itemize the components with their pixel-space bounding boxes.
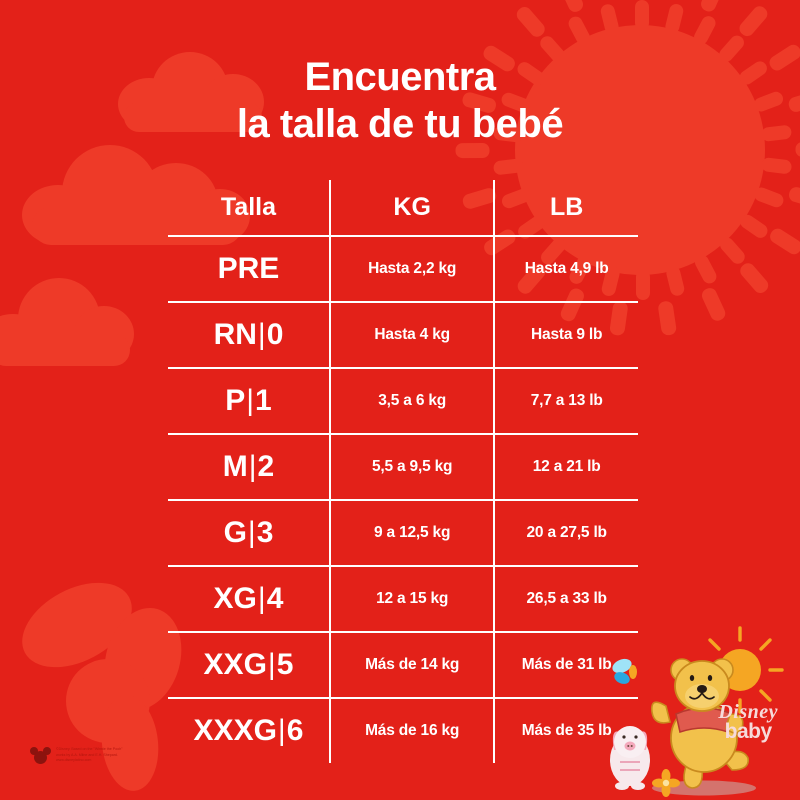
size-number: 2	[258, 450, 275, 483]
sunburst-ray	[636, 270, 650, 300]
table-row: M|25,5 a 9,5 kg12 a 21 lb	[168, 434, 638, 500]
size-label: PRE	[218, 252, 280, 285]
size-letters: PRE	[218, 252, 280, 285]
sunburst-ray	[787, 185, 800, 209]
sunburst-ray	[664, 3, 685, 35]
size-separator: |	[257, 318, 267, 352]
baby-wordmark: baby	[718, 722, 778, 742]
sunburst-ray	[566, 14, 592, 47]
cell-weight-lb: 20 a 27,5 lb	[494, 500, 638, 566]
size-label: XXG|5	[204, 648, 294, 681]
table-header-row: Talla KG LB	[168, 180, 638, 236]
cell-size: G|3	[168, 500, 330, 566]
sunburst-ray	[737, 260, 771, 295]
sunburst-ray	[717, 235, 747, 267]
size-label: M|2	[223, 450, 274, 483]
sunburst-ray	[665, 265, 686, 297]
sunburst-ray	[514, 4, 548, 39]
size-letters: M	[223, 450, 248, 483]
size-number: 6	[287, 714, 304, 747]
size-letters: XG	[214, 582, 257, 615]
disney-baby-logo: Disney baby	[718, 703, 778, 742]
size-number: 0	[267, 318, 284, 351]
table-header: Talla KG LB	[168, 180, 638, 236]
sunburst-ray	[737, 3, 771, 39]
table-row: RN|0Hasta 4 kgHasta 9 lb	[168, 302, 638, 368]
page-title: Encuentra la talla de tu bebé	[0, 54, 800, 148]
sunburst-ray	[699, 0, 727, 14]
size-label: XXXG|6	[194, 714, 304, 747]
copyright-line-3: www.disneylatino.com	[56, 758, 122, 764]
butterfly-icon	[610, 656, 637, 686]
size-separator: |	[245, 384, 255, 418]
cell-weight-kg: 5,5 a 9,5 kg	[330, 434, 494, 500]
size-letters: RN	[214, 318, 257, 351]
cell-weight-kg: 9 a 12,5 kg	[330, 500, 494, 566]
cell-weight-kg: 3,5 a 6 kg	[330, 368, 494, 434]
size-letters: XXG	[204, 648, 267, 681]
size-number: 3	[257, 516, 274, 549]
sunburst-ray	[693, 253, 719, 286]
cell-weight-lb: Hasta 4,9 lb	[494, 236, 638, 302]
sunburst-ray	[752, 186, 785, 210]
mickey-mouse-icon	[30, 747, 50, 764]
sunburst-ray	[557, 0, 585, 14]
cell-size: P|1	[168, 368, 330, 434]
cell-weight-lb: 12 a 21 lb	[494, 434, 638, 500]
table-row: XXG|5Más de 14 kgMás de 31 lb	[168, 632, 638, 698]
table-row: XG|412 a 15 kg26,5 a 33 lb	[168, 566, 638, 632]
piglet-character	[610, 726, 650, 790]
cloud-watermark-lower	[0, 270, 150, 365]
cell-size: PRE	[168, 236, 330, 302]
size-separator: |	[257, 582, 267, 616]
size-label: XG|4	[214, 582, 284, 615]
sunburst-ray	[761, 157, 792, 175]
size-letters: XXXG	[194, 714, 277, 747]
table-row: P|13,5 a 6 kg7,7 a 13 lb	[168, 368, 638, 434]
column-header-kg: KG	[330, 180, 494, 236]
sunburst-ray	[692, 14, 718, 47]
disney-wordmark: Disney	[718, 703, 778, 722]
cell-size: XXXG|6	[168, 698, 330, 763]
copyright-text: ©Disney. Based on the "Winnie the Pooh" …	[56, 747, 122, 764]
cell-weight-kg: Hasta 4 kg	[330, 302, 494, 368]
table-row: G|39 a 12,5 kg20 a 27,5 lb	[168, 500, 638, 566]
cell-size: M|2	[168, 434, 330, 500]
size-label: RN|0	[214, 318, 284, 351]
cell-size: XG|4	[168, 566, 330, 632]
sunburst-ray	[700, 286, 728, 323]
size-label: P|1	[225, 384, 272, 417]
size-number: 1	[255, 384, 272, 417]
cell-weight-lb: 7,7 a 13 lb	[494, 368, 638, 434]
table-row: PREHasta 2,2 kgHasta 4,9 lb	[168, 236, 638, 302]
sunburst-ray	[657, 300, 677, 336]
copyright-line-1: ©Disney. Based on the "Winnie the Pooh"	[56, 747, 122, 753]
title-line-1: Encuentra	[0, 54, 800, 101]
size-number: 5	[277, 648, 294, 681]
cell-size: XXG|5	[168, 632, 330, 698]
column-header-lb: LB	[494, 180, 638, 236]
size-letters: P	[225, 384, 245, 417]
copyright-block: ©Disney. Based on the "Winnie the Pooh" …	[30, 747, 122, 764]
size-separator: |	[248, 450, 258, 484]
cell-weight-kg: Más de 14 kg	[330, 632, 494, 698]
cell-size: RN|0	[168, 302, 330, 368]
size-label: G|3	[224, 516, 274, 549]
sunburst-ray	[738, 212, 771, 241]
column-header-talla: Talla	[168, 180, 330, 236]
size-letters: G	[224, 516, 247, 549]
sunburst-ray	[635, 0, 649, 30]
size-separator: |	[277, 714, 287, 748]
cell-weight-lb: Hasta 9 lb	[494, 302, 638, 368]
size-separator: |	[267, 648, 277, 682]
cell-weight-kg: Hasta 2,2 kg	[330, 236, 494, 302]
size-number: 4	[267, 582, 284, 615]
table-body: PREHasta 2,2 kgHasta 4,9 lbRN|0Hasta 4 k…	[168, 236, 638, 763]
cell-weight-kg: Más de 16 kg	[330, 698, 494, 763]
table-row: XXXG|6Más de 16 kgMás de 35 lb	[168, 698, 638, 763]
title-line-2: la talla de tu bebé	[0, 101, 800, 148]
cell-weight-kg: 12 a 15 kg	[330, 566, 494, 632]
sunburst-ray	[767, 226, 800, 257]
baby-size-table: Talla KG LB PREHasta 2,2 kgHasta 4,9 lbR…	[168, 180, 638, 763]
size-separator: |	[247, 516, 257, 550]
